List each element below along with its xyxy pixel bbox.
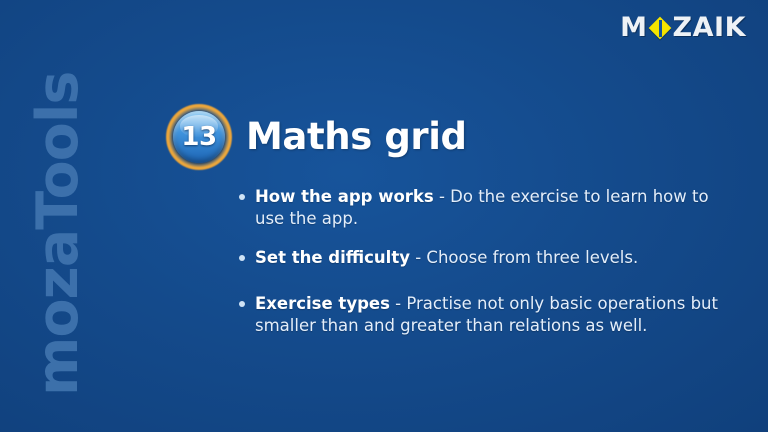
diamond-icon — [649, 17, 672, 40]
title-row: 13 Maths grid — [166, 104, 742, 170]
list-item: Exercise types - Practise not only basic… — [238, 293, 738, 337]
bullet-dot-icon — [239, 255, 245, 261]
list-item-lead: How the app works — [255, 187, 434, 206]
logo-text-m: M — [620, 14, 647, 42]
content-area: 13 Maths grid How the app works - Do the… — [166, 104, 742, 354]
watermark-label: mozaTools — [25, 0, 91, 396]
bullet-list: How the app works - Do the exercise to l… — [238, 186, 738, 337]
list-item-lead: Set the difficulty — [255, 248, 410, 267]
badge-number: 13 — [166, 104, 232, 170]
list-item: Set the difficulty - Choose from three l… — [238, 247, 738, 269]
slide-canvas: mozaTools M ZAIK 13 Maths grid How the a… — [0, 0, 768, 432]
watermark: mozaTools — [0, 0, 150, 432]
diamond-slit — [659, 20, 662, 37]
logo-text-zaik: ZAIK — [673, 14, 746, 42]
list-item-rest: - Choose from three levels. — [410, 248, 638, 267]
bullet-dot-icon — [239, 194, 245, 200]
number-badge: 13 — [166, 104, 232, 170]
list-item: How the app works - Do the exercise to l… — [238, 186, 738, 230]
bullet-dot-icon — [239, 301, 245, 307]
mozaik-logo: M ZAIK — [620, 14, 746, 42]
list-item-lead: Exercise types — [255, 294, 390, 313]
page-title: Maths grid — [246, 117, 467, 157]
